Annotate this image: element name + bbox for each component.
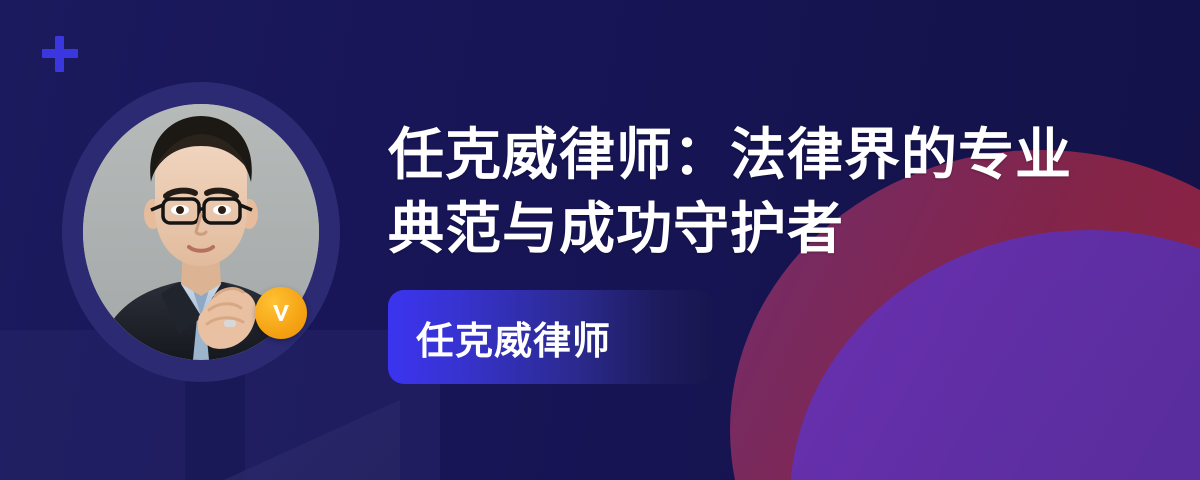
avatar [62,82,340,382]
page-title: 任克威律师：法律界的专业典范与成功守护者 [388,118,1088,266]
plus-icon [42,36,78,72]
lawyer-name-button[interactable]: 任克威律师 [388,290,712,384]
promo-banner: 任克威律师：法律界的专业典范与成功守护者 任克威律师 [0,0,1200,480]
verified-v-badge-icon [255,287,307,339]
banner-content: 任克威律师：法律界的专业典范与成功守护者 任克威律师 [388,118,1088,384]
